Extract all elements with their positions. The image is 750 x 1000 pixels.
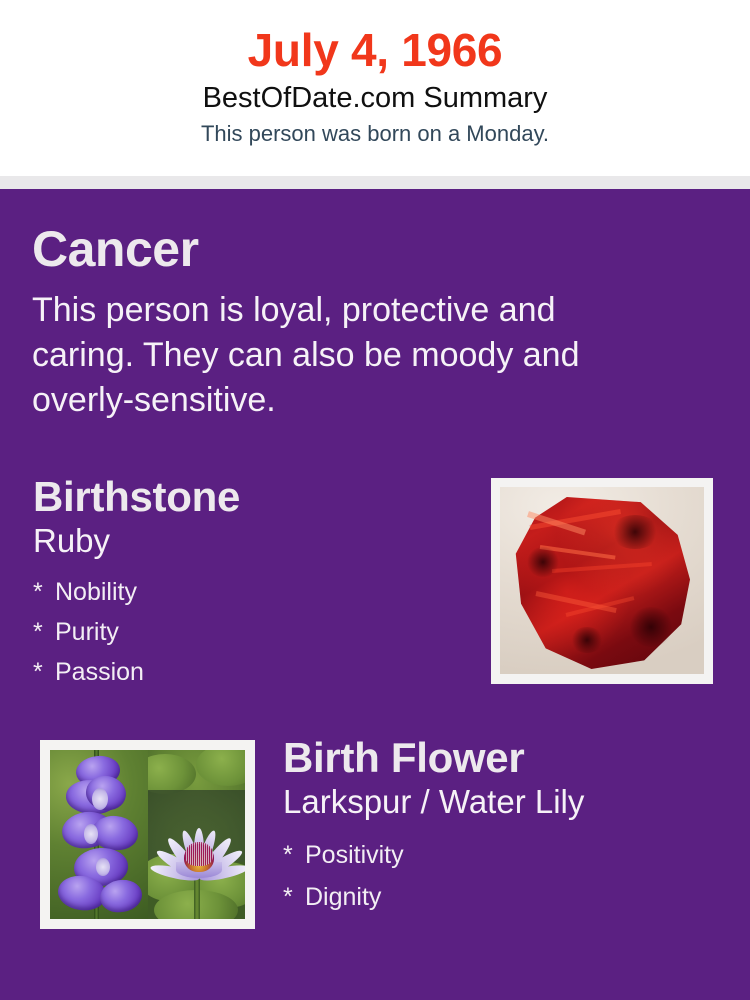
birth-flower-heading: Birth Flower <box>283 737 733 779</box>
bullet-star-icon: * <box>33 580 55 605</box>
birthstone-heading: Birthstone <box>33 476 463 518</box>
trait-label: Dignity <box>305 883 381 911</box>
birth-flower-name: Larkspur / Water Lily <box>283 779 733 820</box>
larkspur-center <box>96 858 110 876</box>
bullet-star-icon: * <box>33 620 55 645</box>
larkspur-photo <box>50 750 148 919</box>
trait-label: Passion <box>55 658 144 686</box>
ruby-crystal-photo <box>500 487 704 674</box>
birthstone-trait-list: *Nobility *Purity *Passion <box>33 559 463 685</box>
bullet-star-icon: * <box>33 660 55 685</box>
header-divider <box>0 176 750 189</box>
details-panel: Cancer This person is loyal, protective … <box>0 189 750 1000</box>
lily-pad <box>148 754 196 794</box>
water-lily-photo <box>148 750 245 919</box>
site-summary-label: BestOfDate.com Summary <box>0 74 750 113</box>
birthday-summary-card: July 4, 1966 BestOfDate.com Summary This… <box>0 0 750 1000</box>
birthstone-section: Birthstone Ruby *Nobility *Purity *Passi… <box>33 476 463 685</box>
list-item: *Dignity <box>283 868 733 910</box>
birthstone-name: Ruby <box>33 518 463 559</box>
larkspur-center <box>84 824 98 844</box>
bullet-star-icon: * <box>283 843 305 868</box>
zodiac-section: Cancer This person is loyal, protective … <box>32 224 672 423</box>
trait-label: Nobility <box>55 578 137 606</box>
ruby-inclusion <box>610 515 660 549</box>
card-header: July 4, 1966 BestOfDate.com Summary This… <box>0 0 750 176</box>
birth-flower-trait-list: *Positivity *Dignity <box>283 820 733 910</box>
born-weekday-text: This person was born on a Monday. <box>0 114 750 145</box>
page-title: July 4, 1966 <box>0 0 750 74</box>
birth-flower-section: Birth Flower Larkspur / Water Lily *Posi… <box>283 737 733 910</box>
list-item: *Nobility <box>33 565 463 605</box>
water-lily-stamens <box>185 842 213 866</box>
trait-label: Positivity <box>305 841 404 869</box>
bullet-star-icon: * <box>283 885 305 910</box>
ruby-inclusion <box>628 607 674 647</box>
list-item: *Passion <box>33 645 463 685</box>
zodiac-description: This person is loyal, protective and car… <box>32 274 642 423</box>
birthstone-photo-frame <box>491 478 713 684</box>
lily-pad <box>196 750 245 786</box>
larkspur-center <box>92 788 108 810</box>
zodiac-sign-heading: Cancer <box>32 224 672 274</box>
ruby-inclusion <box>526 547 560 577</box>
list-item: *Positivity <box>283 826 733 868</box>
trait-label: Purity <box>55 618 119 646</box>
birth-flower-photo <box>50 750 245 919</box>
list-item: *Purity <box>33 605 463 645</box>
birth-flower-photo-frame <box>40 740 255 929</box>
ruby-inclusion <box>570 627 604 653</box>
